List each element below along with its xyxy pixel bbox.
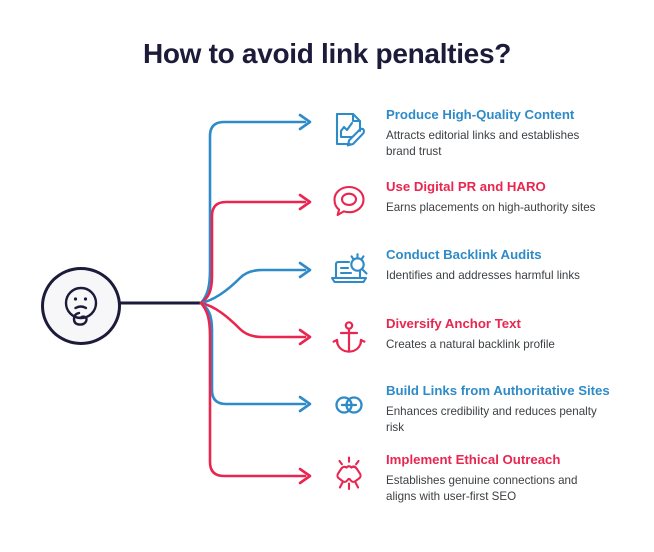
connector-branch-2 [201, 202, 305, 303]
list-item[interactable]: Implement Ethical Outreach Establishes g… [326, 451, 601, 505]
item-heading: Produce High-Quality Content [386, 107, 601, 123]
connector-branch-4 [201, 303, 305, 337]
item-text-block: Conduct Backlink Audits Identifies and a… [386, 246, 580, 284]
list-item[interactable]: Build Links from Authoritative Sites Enh… [326, 382, 610, 436]
item-text-block: Implement Ethical Outreach Establishes g… [386, 451, 601, 505]
item-heading: Use Digital PR and HARO [386, 179, 595, 195]
list-item[interactable]: Produce High-Quality Content Attracts ed… [326, 106, 601, 160]
item-description: Establishes genuine connections and alig… [386, 473, 601, 505]
laptop-magnifier-icon [326, 246, 372, 292]
item-description: Attracts editorial links and establishes… [386, 128, 601, 160]
item-heading: Conduct Backlink Audits [386, 247, 580, 263]
item-text-block: Use Digital PR and HARO Earns placements… [386, 178, 595, 216]
item-description: Earns placements on high-authority sites [386, 200, 595, 216]
item-text-block: Build Links from Authoritative Sites Enh… [386, 382, 610, 436]
item-heading: Implement Ethical Outreach [386, 452, 601, 468]
list-item[interactable]: Diversify Anchor Text Creates a natural … [326, 315, 555, 361]
hub-node [41, 267, 121, 345]
item-heading: Diversify Anchor Text [386, 316, 555, 332]
connector-branch-1 [201, 122, 305, 303]
list-item[interactable]: Use Digital PR and HARO Earns placements… [326, 178, 595, 224]
connector-branch-6 [201, 303, 305, 476]
infographic-canvas: How to avoid link penalties? [0, 0, 654, 552]
anchor-icon [326, 315, 372, 361]
connector-branch-3 [201, 270, 305, 303]
document-chart-pencil-icon [326, 106, 372, 152]
item-text-block: Diversify Anchor Text Creates a natural … [386, 315, 555, 353]
item-description: Identifies and addresses harmful links [386, 268, 580, 284]
fist-bump-icon [326, 451, 372, 497]
item-text-block: Produce High-Quality Content Attracts ed… [386, 106, 601, 160]
thinking-face-icon [55, 280, 107, 332]
item-description: Creates a natural backlink profile [386, 337, 555, 353]
list-item[interactable]: Conduct Backlink Audits Identifies and a… [326, 246, 580, 292]
item-heading: Build Links from Authoritative Sites [386, 383, 610, 399]
chain-link-icon [326, 382, 372, 428]
speech-bubble-icon [326, 178, 372, 224]
connector-branch-5 [201, 303, 305, 404]
item-description: Enhances credibility and reduces penalty… [386, 404, 601, 436]
